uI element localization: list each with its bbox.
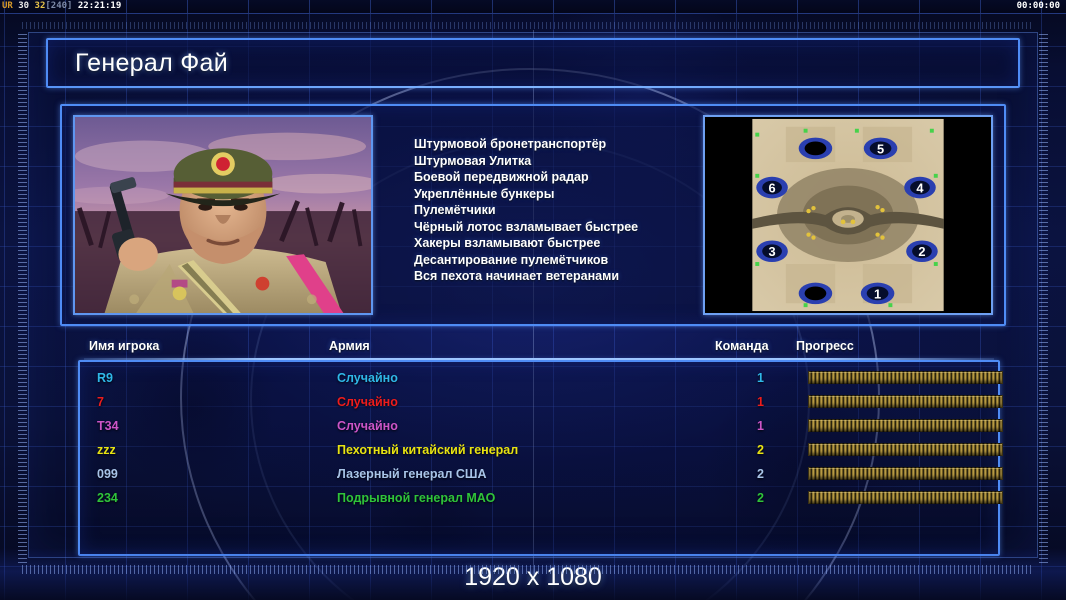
player-army[interactable]: Случайно (337, 395, 398, 409)
player-team[interactable]: 1 (757, 371, 764, 385)
table-row[interactable]: zzzПехотный китайский генерал2 (91, 438, 991, 462)
column-header-army: Армия (329, 339, 370, 353)
table-row[interactable]: 234Подрывной генерал МАО2 (91, 486, 991, 510)
player-progress-bar (808, 491, 1003, 504)
column-header-progress: Прогресс (796, 339, 854, 353)
player-name: 099 (97, 467, 118, 481)
title-panel: Генерал Фай (46, 38, 1020, 88)
ability-item: Хакеры взламывают быстрее (414, 235, 638, 252)
player-name: 7 (97, 395, 104, 409)
svg-text:5: 5 (877, 141, 884, 156)
svg-text:2: 2 (918, 244, 925, 259)
player-army[interactable]: Лазерный генерал США (337, 467, 486, 481)
table-row[interactable]: 099Лазерный генерал США2 (91, 462, 991, 486)
map-preview-image: 5 6 4 3 2 1 (705, 117, 991, 313)
map-preview[interactable]: 5 6 4 3 2 1 (703, 115, 993, 315)
player-team[interactable]: 1 (757, 419, 764, 433)
ruler-right (1039, 34, 1048, 564)
player-team[interactable]: 2 (757, 443, 764, 457)
player-progress-bar (808, 371, 1003, 384)
ability-item: Штурмовая Улитка (414, 153, 638, 170)
ability-item: Десантирование пулемётчиков (414, 252, 638, 269)
svg-text:4: 4 (916, 180, 924, 195)
svg-text:1: 1 (874, 286, 881, 301)
ruler-top (22, 22, 1032, 29)
player-team[interactable]: 2 (757, 467, 764, 481)
table-row[interactable]: R9Случайно1 (91, 366, 991, 390)
title-underline (48, 86, 1018, 88)
fps-value-avg: 32 (35, 1, 46, 11)
game-clock: 00:00:00 (1017, 1, 1060, 12)
game-lobby-screen: UR 30 32[240] 22:21:19 00:00:00 Генерал … (0, 0, 1066, 600)
general-info-panel: Штурмовой бронетранспортёр Штурмовая Ули… (60, 104, 1006, 326)
player-rows: R9Случайно17Случайно1T34Случайно1zzzПехо… (91, 366, 991, 510)
page-title: Генерал Фай (75, 49, 228, 78)
general-abilities-list: Штурмовой бронетранспортёр Штурмовая Ули… (414, 136, 638, 285)
ability-item: Пулемётчики (414, 202, 638, 219)
general-portrait-image (75, 117, 371, 313)
player-team[interactable]: 2 (757, 491, 764, 505)
player-name: zzz (97, 443, 116, 457)
player-army[interactable]: Случайно (337, 419, 398, 433)
column-header-name: Имя игрока (89, 339, 159, 353)
player-army[interactable]: Случайно (337, 371, 398, 385)
status-bar-grid (0, 0, 1066, 13)
fps-bracket: [240] (45, 1, 72, 11)
ability-item: Укреплённые бункеры (414, 186, 638, 203)
player-progress-bar (808, 443, 1003, 456)
player-name: T34 (97, 419, 119, 433)
session-time: 22:21:19 (78, 1, 121, 11)
general-portrait (73, 115, 373, 315)
ability-item: Чёрный лотос взламывает быстрее (414, 219, 638, 236)
player-table-header: Имя игрока Армия Команда Прогресс (84, 339, 994, 358)
fps-value-current: 30 (18, 1, 29, 11)
player-progress-bar (808, 419, 1003, 432)
column-header-team: Команда (715, 339, 769, 353)
fps-counter: UR 30 32[240] 22:21:19 (2, 1, 121, 12)
player-army[interactable]: Подрывной генерал МАО (337, 491, 495, 505)
table-row[interactable]: 7Случайно1 (91, 390, 991, 414)
table-row[interactable]: T34Случайно1 (91, 414, 991, 438)
player-army[interactable]: Пехотный китайский генерал (337, 443, 518, 457)
player-progress-bar (808, 395, 1003, 408)
player-progress-bar (808, 467, 1003, 480)
svg-text:6: 6 (768, 180, 775, 195)
player-team[interactable]: 1 (757, 395, 764, 409)
ability-item: Вся пехота начинает ветеранами (414, 268, 638, 285)
resolution-label: 1920 x 1080 (0, 563, 1066, 592)
player-name: 234 (97, 491, 118, 505)
ability-item: Штурмовой бронетранспортёр (414, 136, 638, 153)
svg-text:3: 3 (768, 244, 775, 259)
player-table-panel: R9Случайно17Случайно1T34Случайно1zzzПехо… (78, 360, 1000, 556)
table-header-divider (84, 358, 994, 360)
fps-label: UR (2, 1, 13, 11)
ability-item: Боевой передвижной радар (414, 169, 638, 186)
ruler-left (18, 34, 27, 564)
player-name: R9 (97, 371, 113, 385)
status-bar: UR 30 32[240] 22:21:19 00:00:00 (0, 0, 1066, 14)
